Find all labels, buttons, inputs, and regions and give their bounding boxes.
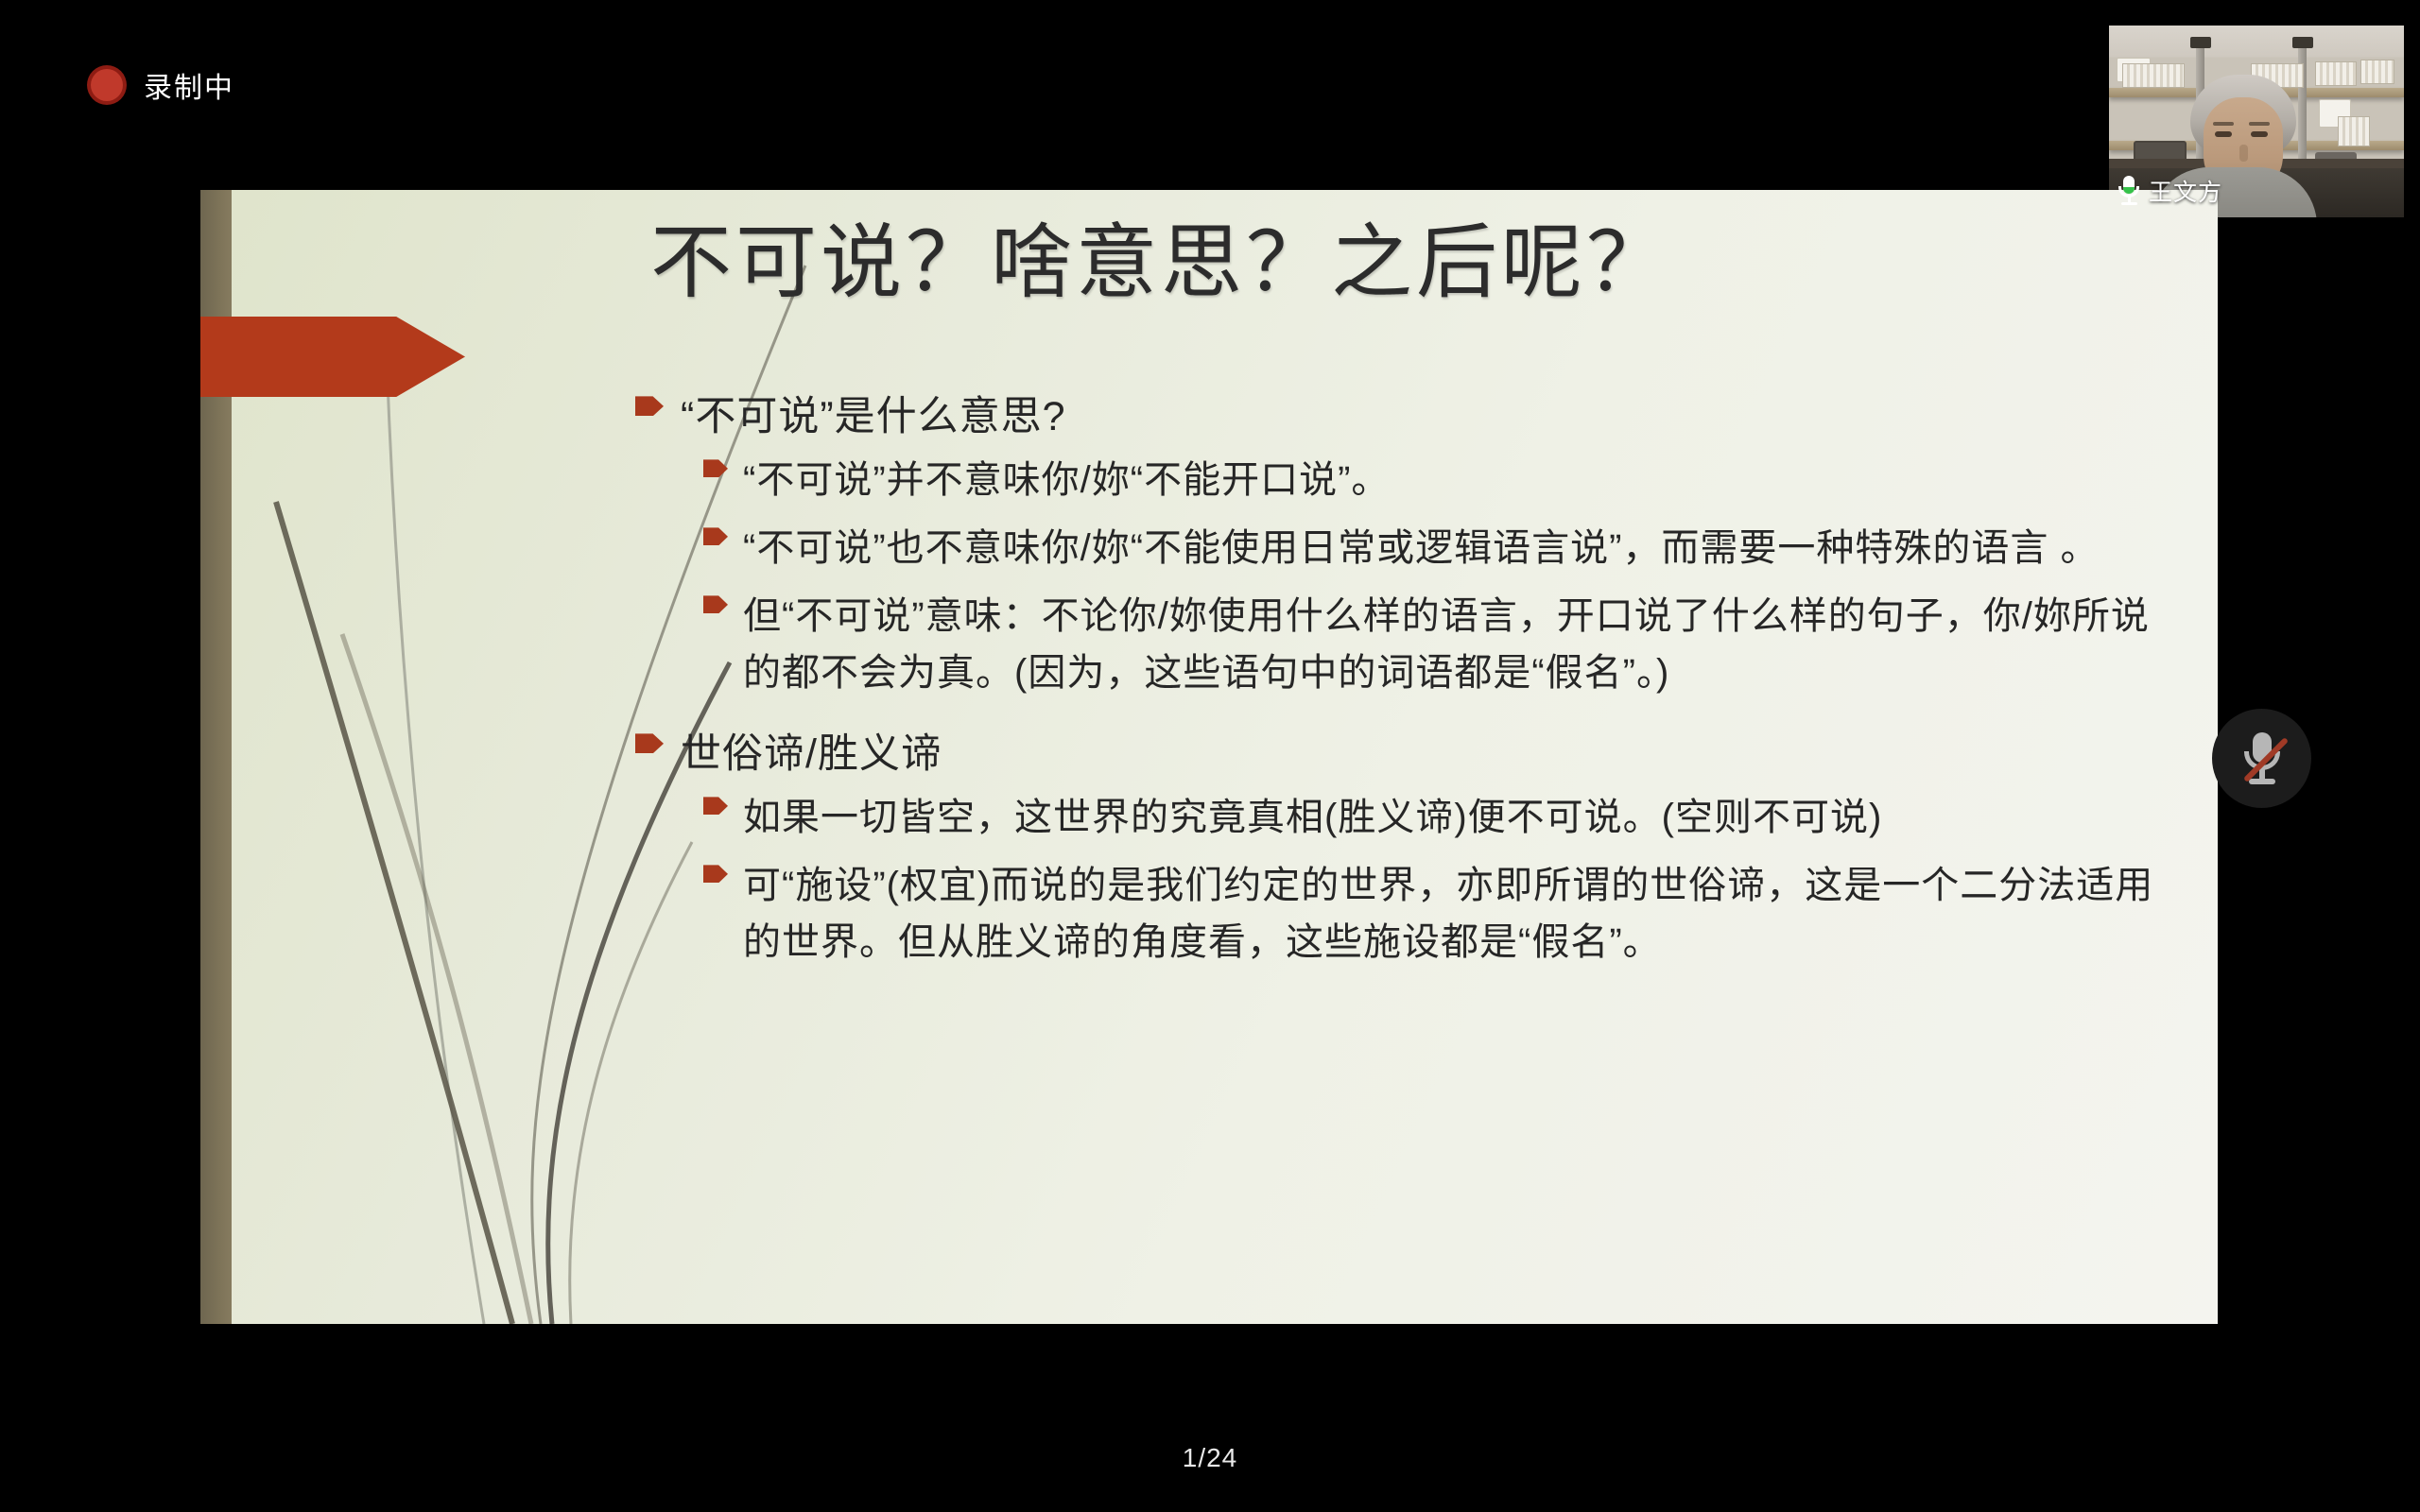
bullet-text: 世俗谛/胜义谛 bbox=[681, 726, 942, 783]
page-indicator: 1/24 bbox=[0, 1443, 2420, 1473]
participant-video-tile[interactable]: 王文方 bbox=[2109, 26, 2404, 217]
slide-bullet-list: “不可说”是什么意思? “不可说”并不意味你/妳“不能开口说”。 “不可说”也不… bbox=[635, 388, 2186, 982]
arrow-bullet-icon bbox=[703, 865, 728, 883]
bullet-item-level2: “不可说”也不意味你/妳“不能使用日常或逻辑语言说”，而需要一种特殊的语言 。 bbox=[703, 520, 2186, 576]
participant-name: 王文方 bbox=[2149, 174, 2222, 208]
record-dot-icon bbox=[91, 69, 123, 101]
arrow-bullet-icon bbox=[703, 595, 728, 613]
arrow-bullet-icon bbox=[703, 527, 728, 545]
microphone-icon bbox=[2117, 176, 2141, 206]
bullet-text: “不可说”并不意味你/妳“不能开口说”。 bbox=[743, 452, 1390, 508]
shelf-post-cap bbox=[2292, 37, 2313, 48]
shelf-books bbox=[2122, 63, 2185, 88]
microphone-muted-icon bbox=[2240, 732, 2284, 785]
bullet-item-level2: 可“施设”(权宜)而说的是我们约定的世界，亦即所谓的世俗谛，这是一个二分法适用的… bbox=[703, 857, 2186, 971]
bullet-item-level2: 但“不可说”意味：不论你/妳使用什么样的语言，开口说了什么样的句子，你/妳所说的… bbox=[703, 588, 2186, 701]
arrow-bullet-icon bbox=[703, 797, 728, 815]
bullet-item-level2: “不可说”并不意味你/妳“不能开口说”。 bbox=[703, 452, 2186, 508]
bullet-item-level1: 世俗谛/胜义谛 bbox=[635, 726, 2186, 783]
arrow-bullet-icon bbox=[703, 459, 728, 477]
recording-indicator: 录制中 bbox=[91, 64, 234, 106]
title-arrow-banner bbox=[200, 317, 465, 397]
arrow-bullet-icon bbox=[635, 396, 664, 416]
bullet-item-level2: 如果一切皆空，这世界的究竟真相(胜义谛)便不可说。(空则不可说) bbox=[703, 789, 2186, 846]
participant-name-badge: 王文方 bbox=[2117, 174, 2222, 208]
shelf-books bbox=[2315, 61, 2357, 86]
shelf-books bbox=[2338, 116, 2370, 146]
shelf-books bbox=[2360, 60, 2394, 84]
slide-canvas: 不可说？啥意思？之后呢？ “不可说”是什么意思? “不可说”并不意味你/妳“不能… bbox=[200, 190, 2218, 1324]
arrow-bullet-icon bbox=[635, 733, 664, 753]
bullet-text: 但“不可说”意味：不论你/妳使用什么样的语言，开口说了什么样的句子，你/妳所说的… bbox=[743, 588, 2186, 701]
bullet-text: 如果一切皆空，这世界的究竟真相(胜义谛)便不可说。(空则不可说) bbox=[743, 789, 1882, 846]
recording-label: 录制中 bbox=[144, 64, 234, 106]
bullet-text: “不可说”是什么意思? bbox=[681, 388, 1066, 446]
bullet-item-level1: “不可说”是什么意思? bbox=[635, 388, 2186, 446]
bullet-text: 可“施设”(权宜)而说的是我们约定的世界，亦即所谓的世俗谛，这是一个二分法适用的… bbox=[743, 857, 2186, 971]
shelf-post-cap bbox=[2190, 37, 2211, 48]
bullet-text: “不可说”也不意味你/妳“不能使用日常或逻辑语言说”，而需要一种特殊的语言 。 bbox=[743, 520, 2100, 576]
slide-title: 不可说？啥意思？之后呢？ bbox=[650, 213, 2068, 315]
mute-toggle-button[interactable] bbox=[2212, 709, 2311, 808]
presentation-viewer: 录制中 bbox=[0, 0, 2420, 1512]
